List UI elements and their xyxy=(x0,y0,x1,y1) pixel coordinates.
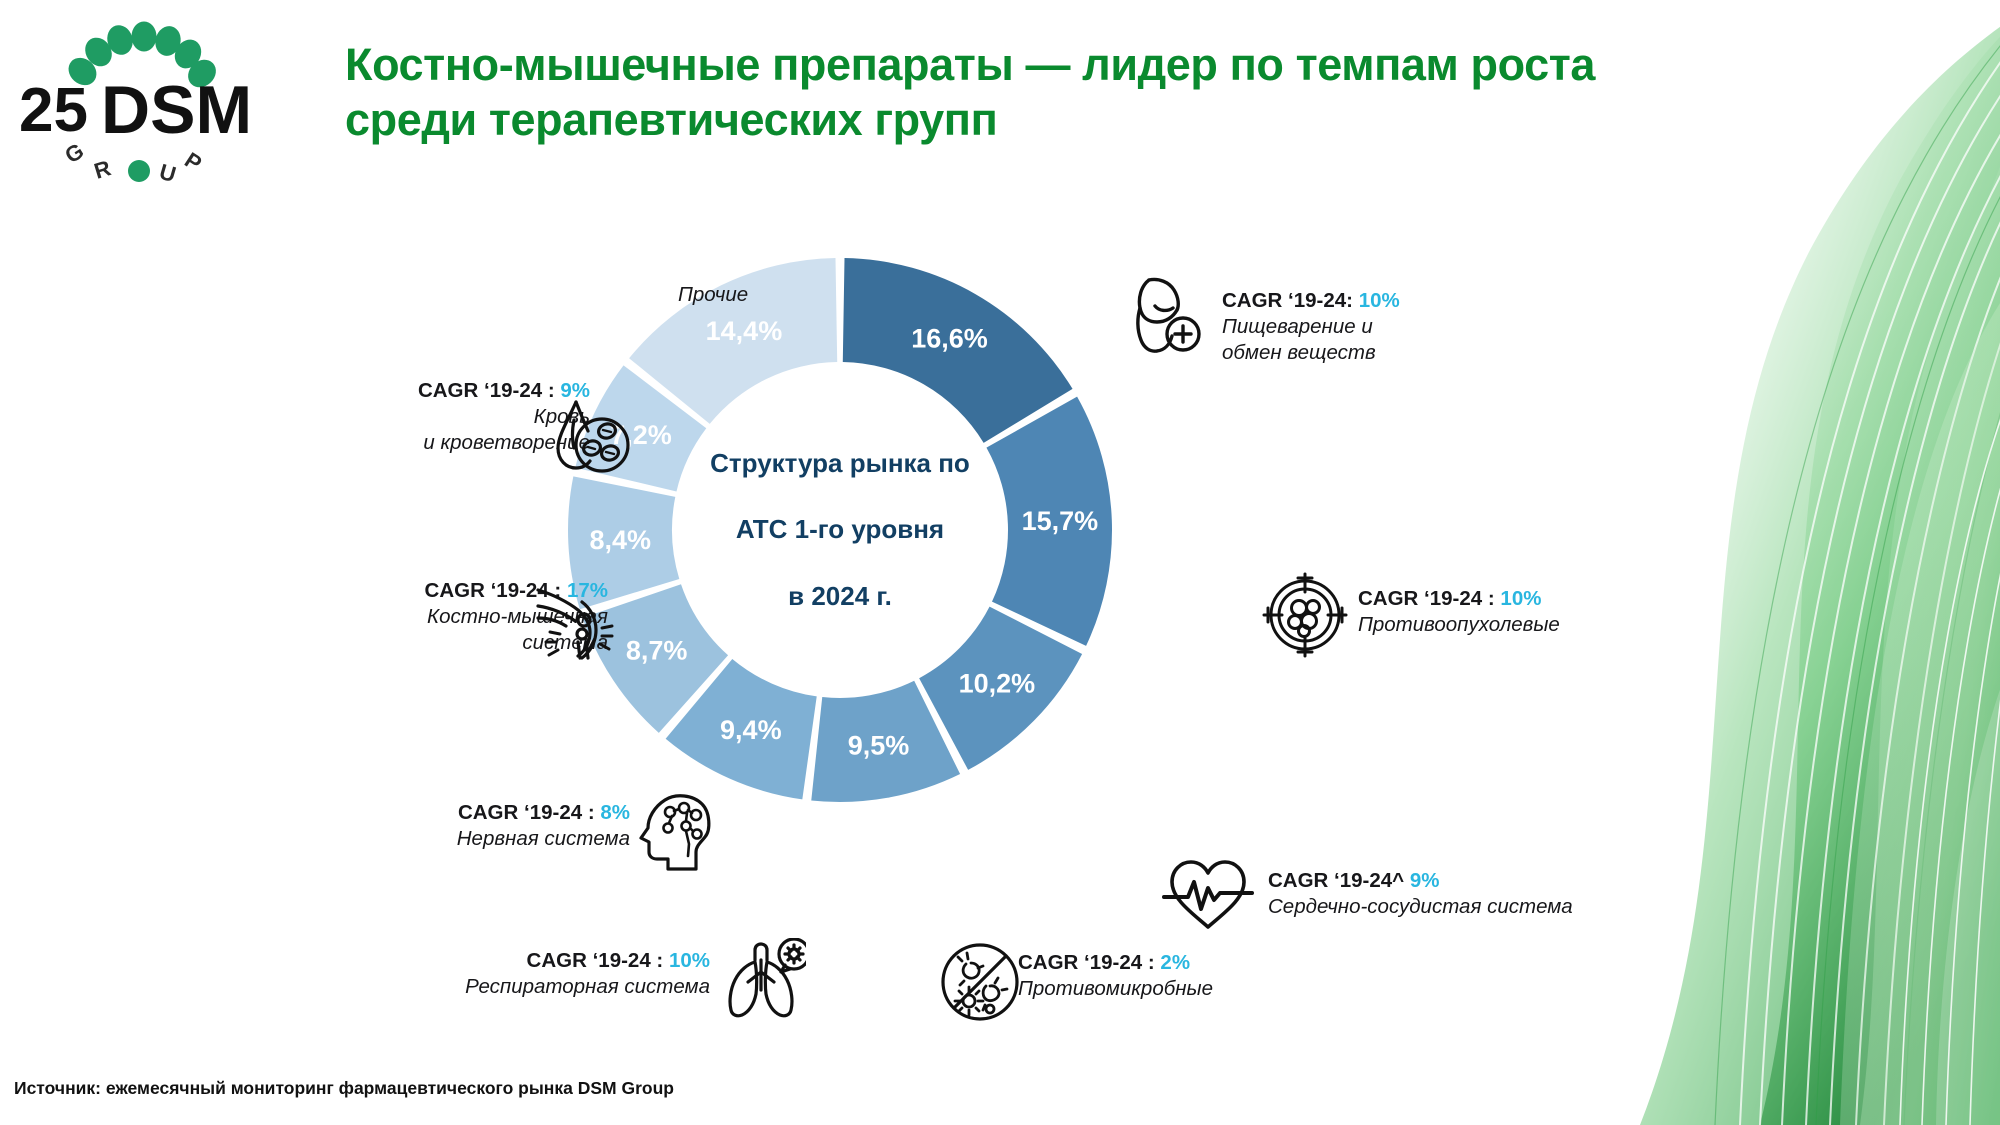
callout-antimicrobial-cagr: CAGR ‘19-24 : 2% xyxy=(1018,950,1213,976)
heart-pulse-icon xyxy=(1162,855,1254,933)
tumor-target-icon xyxy=(1262,572,1348,658)
dsm-group-logo: 25 DSM G R U P xyxy=(8,4,270,194)
callout-oncology-name: Противоопухолевые xyxy=(1358,612,1560,638)
cagr-value: 10% xyxy=(1359,289,1400,312)
callout-digestion: CAGR ‘19-24: 10% Пищеварение и обмен вещ… xyxy=(1222,288,1400,365)
callout-respiratory: CAGR ‘19-24 : 10% Респираторная система xyxy=(390,948,710,1000)
cagr-prefix: CAGR ‘19-24 : xyxy=(1358,587,1495,610)
callout-oncology-cagr: CAGR ‘19-24 : 10% xyxy=(1358,586,1560,612)
lungs-icon xyxy=(718,938,806,1022)
no-bacteria-icon xyxy=(938,940,1022,1024)
joint-bone-icon xyxy=(534,580,618,666)
callout-digestion-name-1: Пищеварение и xyxy=(1222,314,1400,340)
source-note: Источник: ежемесячный мониторинг фармаце… xyxy=(14,1078,674,1099)
decorative-green-ribbon-background xyxy=(1360,0,2000,1125)
callout-cardio-cagr: CAGR ‘19-24^ 9% xyxy=(1268,868,1573,894)
callout-blood-name-1: Кровь xyxy=(280,404,590,430)
page-title-line2: среди терапевтических групп xyxy=(345,93,1745,148)
callout-digestion-name-2: обмен веществ xyxy=(1222,340,1400,366)
callout-respiratory-cagr: CAGR ‘19-24 : 10% xyxy=(390,948,710,974)
callout-cardio: CAGR ‘19-24^ 9% Сердечно-сосудистая сист… xyxy=(1268,868,1573,920)
callout-antimicrobial-name: Противомикробные xyxy=(1018,976,1213,1002)
slice-name-other: Прочие xyxy=(678,283,748,307)
callout-blood-cagr: CAGR ‘19-24 : 9% xyxy=(280,378,590,404)
cagr-prefix: CAGR ‘19-24^ xyxy=(1268,869,1404,892)
center-line-1: Структура рынка по xyxy=(710,447,970,480)
cagr-prefix: CAGR ‘19-24 : xyxy=(418,379,555,402)
callout-respiratory-name: Респираторная система xyxy=(390,974,710,1000)
callout-cardio-name: Сердечно-сосудистая система xyxy=(1268,894,1573,920)
cagr-value: 10% xyxy=(669,949,710,972)
cagr-prefix: CAGR ‘19-24: xyxy=(1222,289,1353,312)
callout-antimicrobial: CAGR ‘19-24 : 2% Противомикробные xyxy=(1018,950,1213,1002)
page-title-line1: Костно-мышечные препараты — лидер по тем… xyxy=(345,38,1745,93)
callout-digestion-cagr: CAGR ‘19-24: 10% xyxy=(1222,288,1400,314)
cagr-prefix: CAGR ‘19-24 : xyxy=(458,801,595,824)
callout-nervous-name: Нервная система xyxy=(310,826,630,852)
head-brain-icon xyxy=(638,790,718,872)
donut-center-label: Структура рынка по ATC 1-го уровня в 202… xyxy=(560,250,1120,810)
cagr-prefix: CAGR ‘19-24 : xyxy=(1018,951,1155,974)
svg-text:DSM: DSM xyxy=(101,72,252,148)
callout-blood: CAGR ‘19-24 : 9% Кровь и кроветворение xyxy=(280,378,590,455)
cagr-value: 8% xyxy=(600,801,630,824)
cagr-value: 9% xyxy=(1410,869,1440,892)
callout-oncology: CAGR ‘19-24 : 10% Противоопухолевые xyxy=(1358,586,1560,638)
cagr-value: 10% xyxy=(1500,587,1541,610)
callout-nervous: CAGR ‘19-24 : 8% Нервная система xyxy=(310,800,630,852)
cagr-value: 2% xyxy=(1160,951,1190,974)
svg-text:25: 25 xyxy=(19,76,88,145)
center-line-2: ATC 1-го уровня xyxy=(710,513,970,546)
cagr-prefix: CAGR ‘19-24 : xyxy=(527,949,664,972)
blood-drop-icon xyxy=(550,398,632,478)
page-title: Костно-мышечные препараты — лидер по тем… xyxy=(345,38,1745,148)
center-line-3: в 2024 г. xyxy=(710,580,970,613)
stomach-icon xyxy=(1125,272,1207,358)
callout-nervous-cagr: CAGR ‘19-24 : 8% xyxy=(310,800,630,826)
callout-blood-name-2: и кроветворение xyxy=(280,430,590,456)
